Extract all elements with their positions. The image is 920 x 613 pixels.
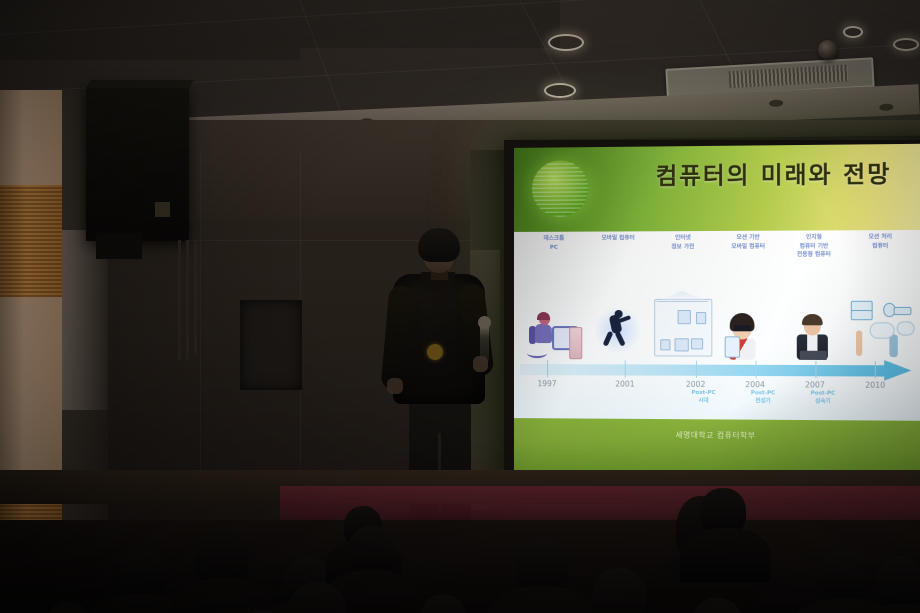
category-label: 인터넷정보 가전 [650, 234, 715, 251]
category-label: 인지형컴퓨터 기반전용형 컴퓨터 [781, 234, 847, 259]
dome-camera-icon [818, 40, 838, 60]
footer-text: 세명대학교 컴퓨터학부 [514, 428, 920, 442]
category-label: 모션 처리컴퓨터 [847, 234, 914, 251]
category-label: 모션 기반모바일 컴퓨터 [715, 234, 781, 251]
category-label: 데스크톱PC [522, 235, 586, 252]
downlight-icon [843, 26, 863, 38]
home-network-icon [650, 287, 715, 363]
timeline-year: 1997 [537, 379, 556, 388]
projection-screen: 컴퓨터의 미래와 전망 데스크톱PC 모바일 컴퓨터 인터넷정보 가전 [504, 135, 920, 484]
speaker-bracket [96, 233, 142, 259]
speaker-badge-icon [155, 202, 170, 217]
timeline-year: 2010 [865, 381, 885, 390]
auditorium-photo: 컴퓨터의 미래와 전망 데스크톱PC 모바일 컴퓨터 인터넷정보 가전 [0, 0, 920, 613]
woman-pda-icon [715, 287, 781, 363]
downlight-icon [893, 38, 919, 51]
dark-wall-panel [240, 300, 302, 390]
wearable-computer-icon [847, 287, 914, 364]
projected-slide: 컴퓨터의 미래와 전망 데스크톱PC 모바일 컴퓨터 인터넷정보 가전 [514, 144, 920, 474]
slide-title: 컴퓨터의 미래와 전망 [634, 154, 913, 191]
category-column: 데스크톱PC [522, 235, 586, 291]
category-labels-row: 데스크톱PC 모바일 컴퓨터 인터넷정보 가전 모션 기반모바일 컴퓨터 인지형 [522, 234, 914, 292]
category-label: 모바일 컴퓨터 [586, 235, 650, 243]
downlight-icon [544, 83, 576, 98]
timeline-sublabel: Post-PC성숙기 [811, 391, 835, 407]
timeline-year: 2004 [745, 380, 765, 389]
slide-body: 데스크톱PC 모바일 컴퓨터 인터넷정보 가전 모션 기반모바일 컴퓨터 인지형 [514, 230, 920, 422]
floor [0, 520, 920, 613]
category-column: 모션 기반모바일 컴퓨터 [715, 234, 781, 291]
desktop-pc-user-icon [522, 288, 586, 363]
timeline-sublabel: Post-PC전성기 [751, 391, 775, 406]
timeline-year: 2002 [686, 380, 706, 389]
man-laptop-icon [781, 287, 847, 363]
timeline: 1997 2001 2002 2004 2007 2010 Post-PC시대 … [520, 364, 916, 421]
category-column: 인터넷정보 가전 [650, 234, 715, 291]
timeline-year: 2007 [805, 381, 825, 390]
category-column: 모바일 컴퓨터 [586, 235, 650, 292]
slide-footer: 세명대학교 컴퓨터학부 [514, 419, 920, 475]
mobile-runner-icon [586, 288, 650, 363]
timeline-sublabel: Post-PC시대 [691, 390, 715, 405]
category-column: 모션 처리컴퓨터 [847, 234, 914, 292]
wall-mounted-pa-speaker [86, 86, 189, 241]
downlight-icon [548, 34, 584, 51]
slide-header: 컴퓨터의 미래와 전망 [514, 144, 920, 232]
timeline-year: 2001 [615, 380, 634, 389]
green-globe-icon [532, 161, 588, 218]
jacket-logo-icon [427, 344, 443, 360]
category-column: 인지형컴퓨터 기반전용형 컴퓨터 [781, 234, 847, 291]
illustration-row [522, 287, 914, 364]
